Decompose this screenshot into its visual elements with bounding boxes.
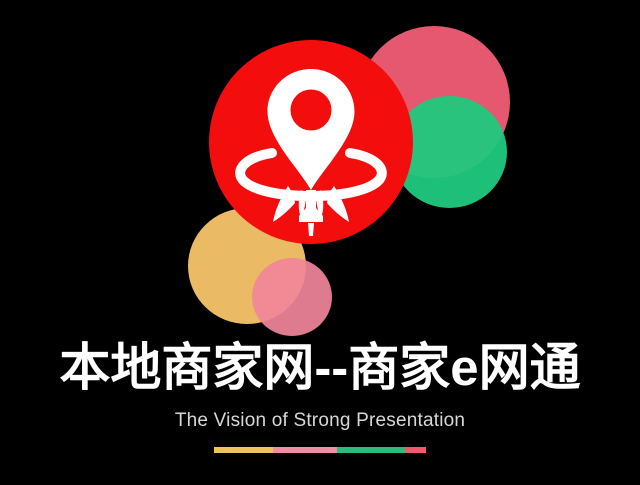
accent-bar: [214, 447, 426, 453]
deco-circle-pink-bottom: [252, 258, 332, 336]
accent-segment-amber: [214, 447, 273, 453]
slide-canvas: 本地商家网--商家e网通 The Vision of Strong Presen…: [0, 0, 640, 485]
accent-segment-pink: [273, 447, 337, 453]
page-title: 本地商家网--商家e网通: [0, 336, 640, 400]
accent-segment-green: [337, 447, 405, 453]
accent-segment-coral: [405, 447, 426, 453]
logo-cluster: [0, 0, 640, 340]
location-pin-rocket-logo: [209, 40, 413, 244]
rocket-fins-icon: [273, 186, 349, 236]
page-subtitle: The Vision of Strong Presentation: [0, 408, 640, 434]
map-pin-hole: [291, 90, 332, 131]
